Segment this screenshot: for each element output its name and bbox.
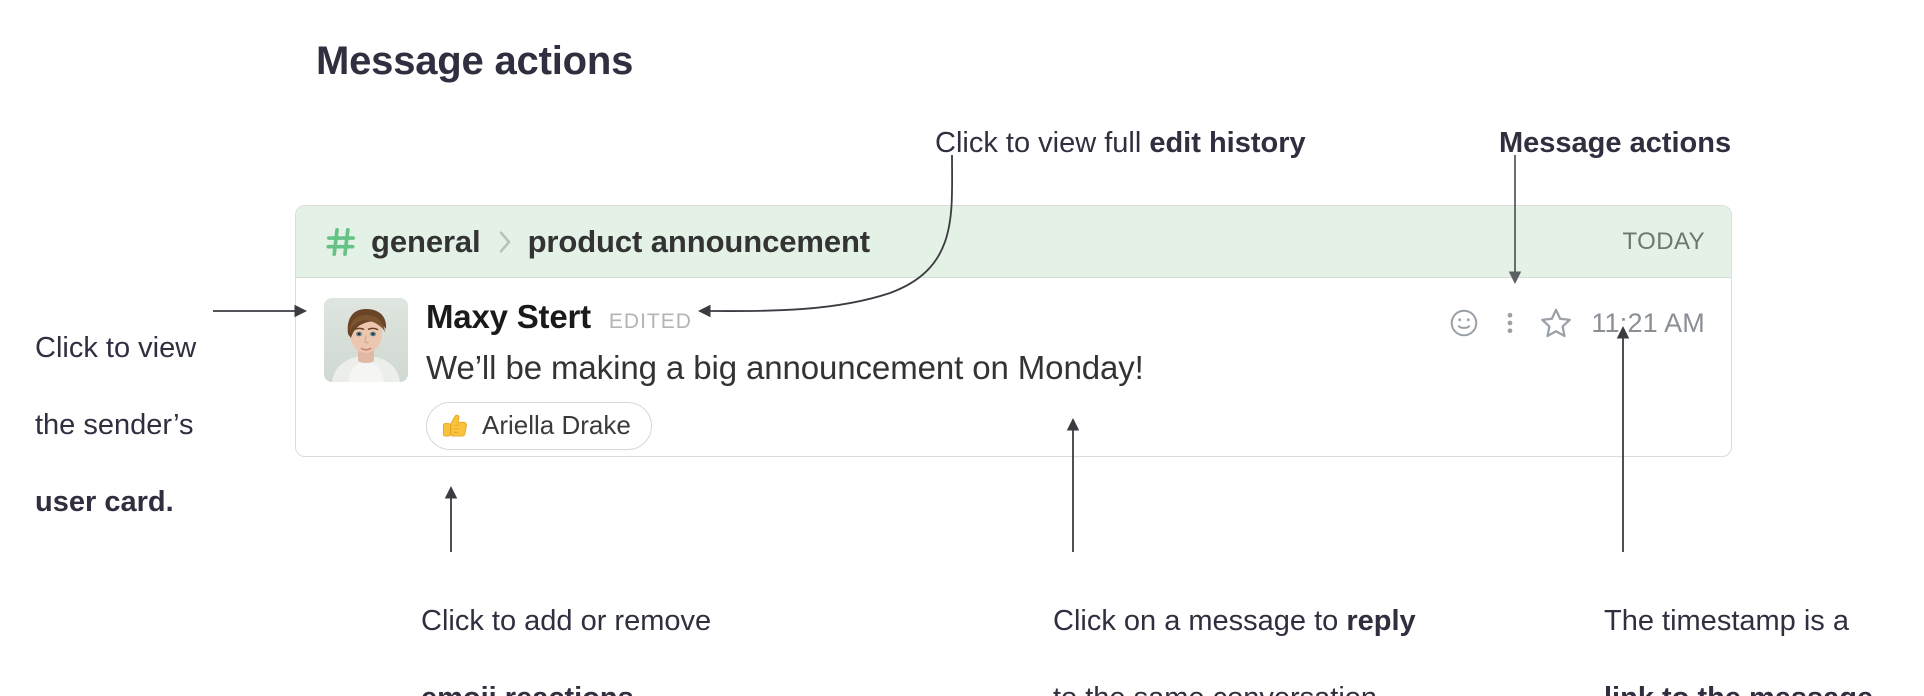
annotation-reply-bold: reply	[1346, 605, 1415, 637]
annotation-emoji-reactions-line1: Click to add or remove	[421, 602, 711, 641]
annotation-timestamp-line1: The timestamp is a	[1604, 602, 1873, 641]
avatar[interactable]	[324, 298, 408, 382]
edited-tag[interactable]: EDITED	[609, 310, 692, 334]
sender-name[interactable]: Maxy Stert	[426, 298, 591, 336]
star-message-icon[interactable]	[1533, 300, 1579, 346]
message-text: We’ll be making a big announcement on Mo…	[426, 348, 1705, 388]
message-row[interactable]: Maxy Stert EDITED We’ll be making a big …	[296, 278, 1731, 450]
screenshot-stage: Message actions Click to view the sender…	[0, 0, 1924, 696]
annotation-user-card-end: .	[166, 486, 174, 518]
card-header-breadcrumb: general product announcement TODAY	[296, 206, 1731, 278]
annotation-user-card-line2: the sender’s	[35, 406, 196, 445]
reaction-label: Ariella Drake	[482, 410, 631, 441]
reaction-chip[interactable]: Ariella Drake	[426, 402, 652, 450]
annotation-user-card-bold: user card	[35, 486, 166, 518]
annotation-reply-pre: Click on a message to	[1053, 605, 1346, 637]
annotation-edit-history-bold: edit history	[1149, 127, 1305, 159]
annotation-edit-history-pre: Click to view full	[935, 127, 1149, 159]
annotation-timestamp-bold: link to the message	[1604, 682, 1873, 696]
annotation-emoji-reactions-bold: emoji reactions	[421, 682, 634, 696]
annotation-emoji-reactions: Click to add or remove emoji reactions.	[421, 563, 711, 696]
annotation-user-card-line1: Click to view	[35, 329, 196, 368]
hash-icon	[324, 225, 358, 259]
user-avatar-photo	[324, 298, 408, 382]
breadcrumb-topic-name[interactable]: product announcement	[528, 224, 870, 260]
annotation-reply: Click on a message to reply to the same …	[1053, 563, 1416, 696]
annotation-timestamp: The timestamp is a link to the message (…	[1604, 563, 1873, 696]
message-card: general product announcement TODAY	[295, 205, 1732, 457]
annotation-user-card: Click to view the sender’s user card.	[35, 290, 196, 560]
date-label: TODAY	[1623, 228, 1705, 256]
annotation-reply-line2: to the same conversation.	[1053, 679, 1416, 696]
message-timestamp-link[interactable]: 11:21 AM	[1591, 308, 1705, 339]
message-controls: 11:21 AM	[1441, 300, 1705, 346]
annotation-message-actions-bold: Message actions	[1499, 127, 1731, 159]
thumbs-up-emoji	[440, 411, 470, 441]
reaction-list: Ariella Drake	[426, 402, 1705, 450]
page-title: Message actions	[316, 39, 633, 84]
breadcrumb-chevron-right-icon	[497, 230, 513, 254]
message-actions-menu-icon[interactable]	[1487, 300, 1533, 346]
annotation-emoji-reactions-end: .	[634, 682, 642, 696]
breadcrumb-stream-name[interactable]: general	[371, 224, 481, 260]
emoji-reaction-icon[interactable]	[1441, 300, 1487, 346]
